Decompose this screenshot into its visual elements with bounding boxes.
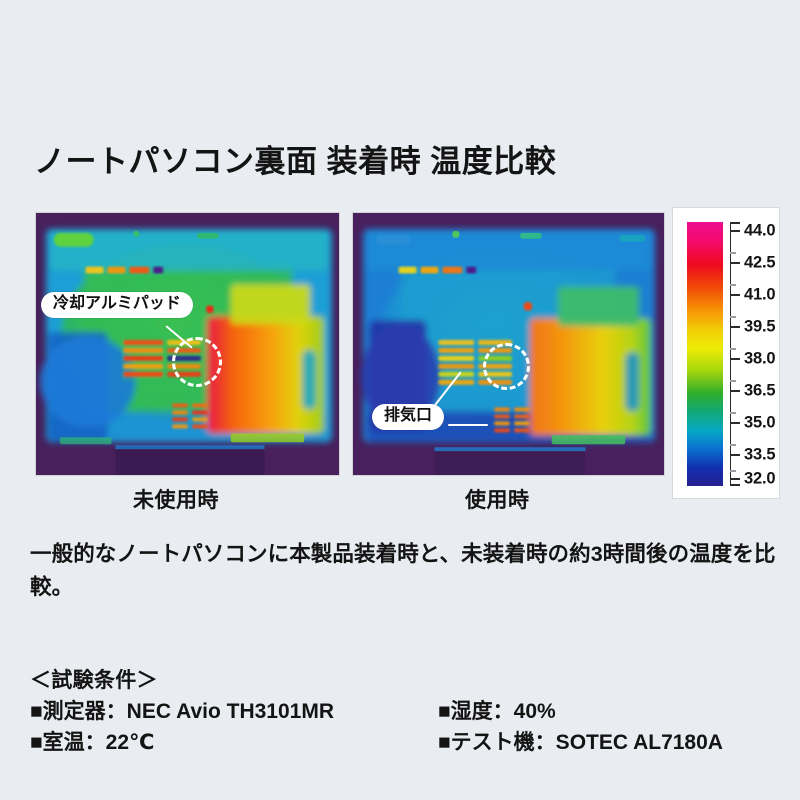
color-scale-tick-36-5: [730, 390, 740, 392]
figure-caption-unused: 未使用時: [133, 484, 219, 514]
color-scale-tick-44: [730, 230, 740, 232]
test-condition-humidity: ■湿度：40%: [438, 697, 556, 727]
color-scale-label-32: 32.0: [744, 470, 775, 489]
test-conditions-row-1: ■測定器：NEC Avio TH3101MR ■湿度：40%: [30, 697, 782, 727]
color-scale-tick-33-5: [730, 454, 740, 456]
color-scale-label-38: 38.0: [744, 350, 775, 369]
color-scale-tick-41: [730, 294, 740, 296]
color-scale-minor-tick-4: [730, 348, 736, 350]
page-title: ノートパソコン裏面 装着時 温度比較: [34, 136, 556, 181]
temperature-color-scale: 44.0 42.5 41.0 39.5 38.0 36.5 35.0 33.5 …: [672, 207, 780, 499]
figure-caption-used: 使用時: [465, 484, 530, 514]
color-scale-tick-cap-top: [730, 222, 740, 224]
test-conditions-heading: ＜試験条件＞: [30, 666, 782, 696]
test-condition-measuring-device: ■測定器：NEC Avio TH3101MR: [30, 697, 438, 727]
color-scale-label-36-5: 36.5: [744, 382, 775, 401]
test-condition-test-machine: ■テスト機：SOTEC AL7180A: [438, 728, 723, 758]
callout-exhaust: 排気口: [372, 404, 444, 430]
dashed-circle-marker-used: [483, 343, 530, 390]
test-condition-room-temperature: ■室温：22℃: [30, 728, 438, 758]
color-scale-label-42-5: 42.5: [744, 254, 775, 273]
callout-cooling-pad: 冷却アルミパッド: [41, 292, 193, 318]
color-scale-tick-42-5: [730, 262, 740, 264]
test-conditions-block: ＜試験条件＞ ■測定器：NEC Avio TH3101MR ■湿度：40% ■室…: [30, 666, 782, 758]
test-conditions-row-2: ■室温：22℃ ■テスト機：SOTEC AL7180A: [30, 728, 782, 758]
color-scale-gradient-bar: [687, 222, 723, 486]
color-scale-tick-32: [730, 478, 740, 480]
color-scale-minor-tick-2: [730, 284, 736, 286]
callout-leader-exhaust-lower: [448, 424, 488, 426]
color-scale-label-41: 41.0: [744, 286, 775, 305]
color-scale-minor-tick-5: [730, 380, 736, 382]
color-scale-minor-tick-1: [730, 252, 736, 254]
color-scale-tick-39-5: [730, 326, 740, 328]
color-scale-minor-tick-8: [730, 470, 736, 472]
color-scale-label-33-5: 33.5: [744, 446, 775, 465]
color-scale-label-39-5: 39.5: [744, 318, 775, 337]
color-scale-label-35: 35.0: [744, 414, 775, 433]
dashed-circle-marker-unused: [172, 337, 222, 387]
color-scale-minor-tick-7: [730, 444, 736, 446]
color-scale-tick-38: [730, 358, 740, 360]
color-scale-minor-tick-6: [730, 412, 736, 414]
description-text: 一般的なノートパソコンに本製品装着時と、未装着時の約3時間後の温度を比較。: [30, 538, 778, 603]
color-scale-tick-35: [730, 422, 740, 424]
color-scale-label-44: 44.0: [744, 222, 775, 241]
color-scale-minor-tick-3: [730, 316, 736, 318]
color-scale-tick-cap-bottom: [730, 484, 740, 486]
